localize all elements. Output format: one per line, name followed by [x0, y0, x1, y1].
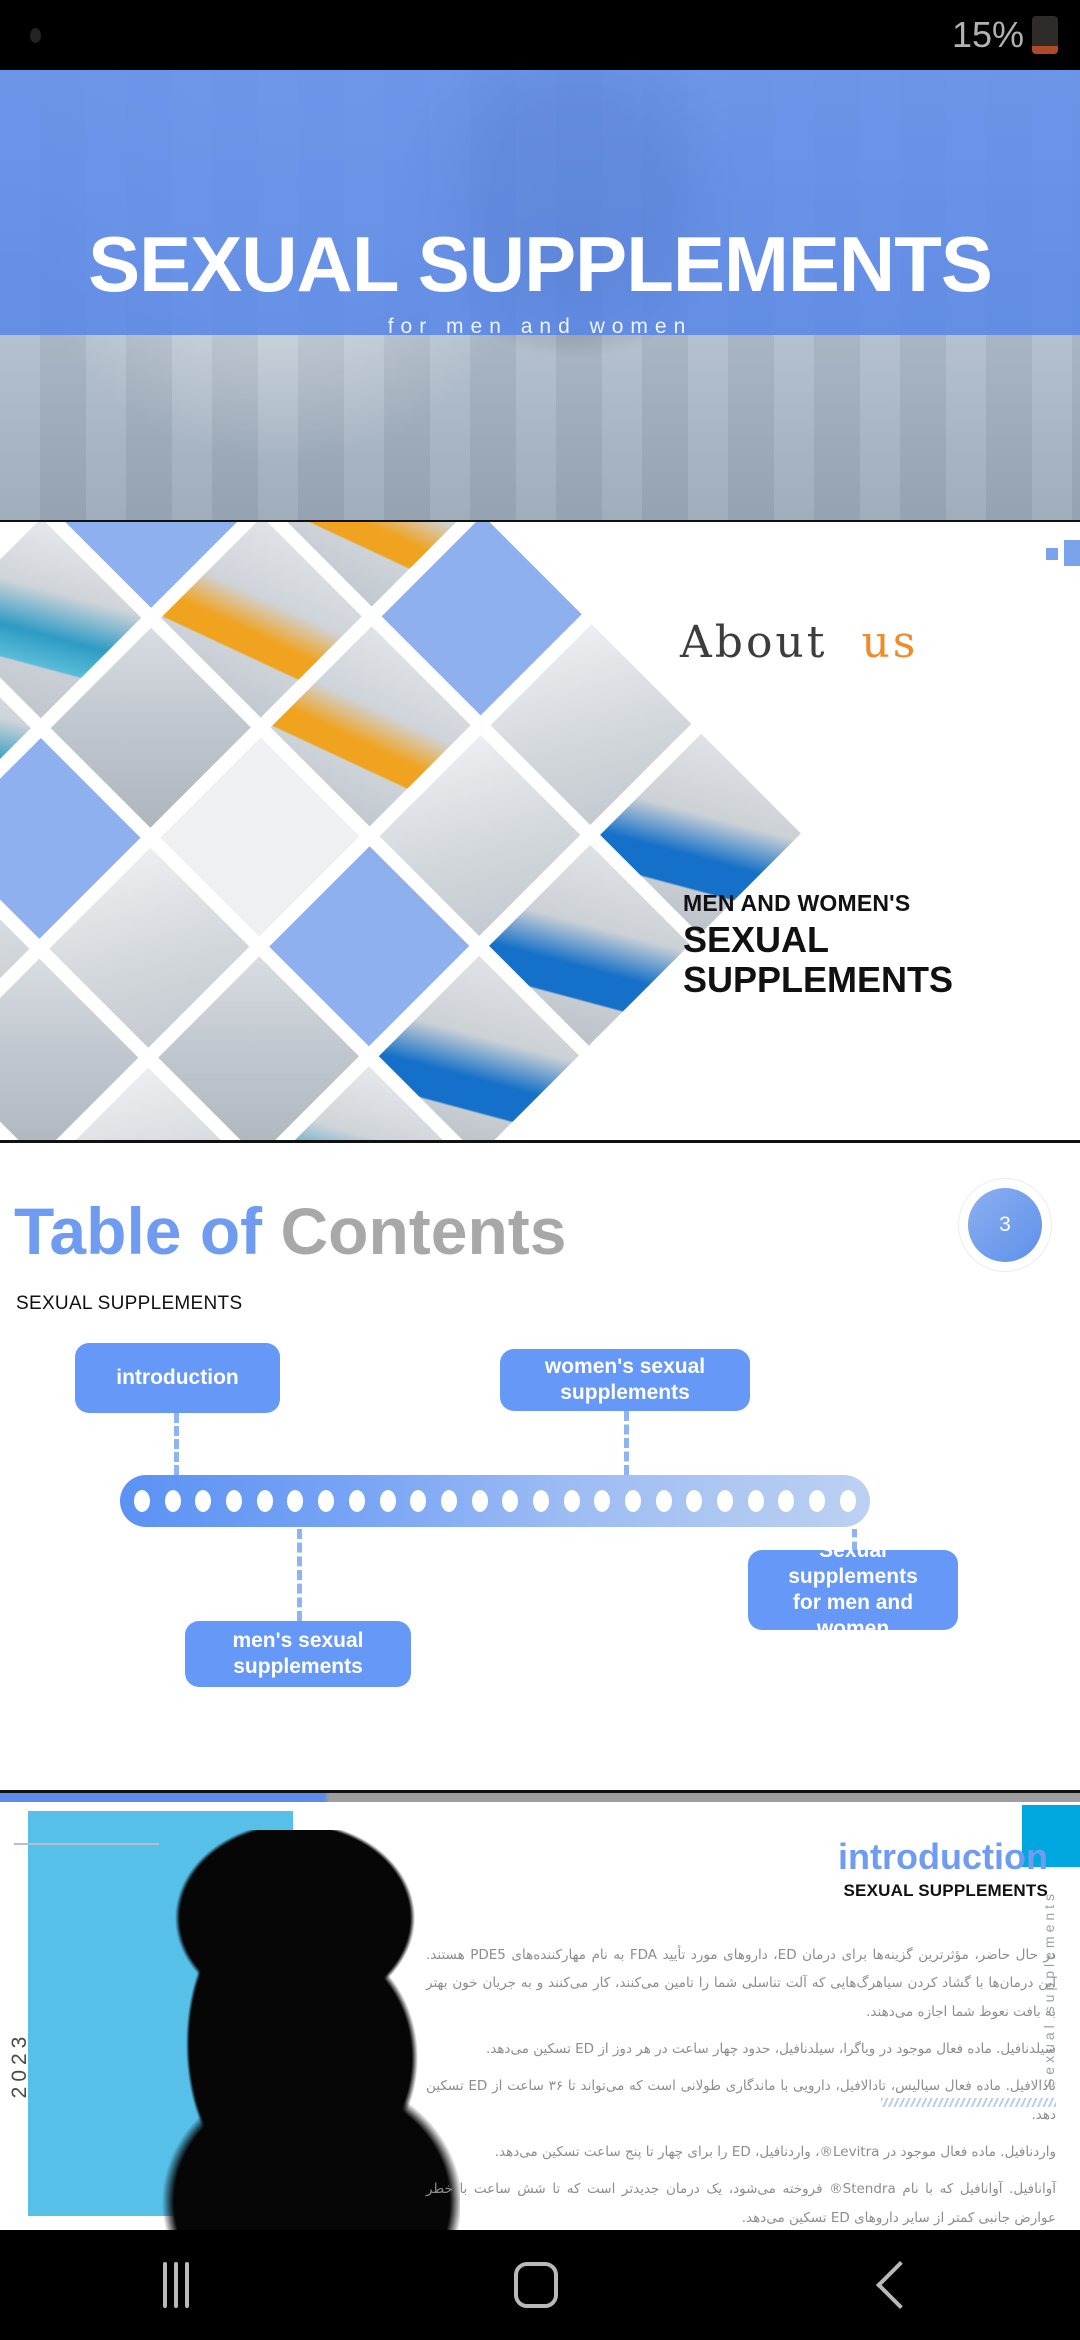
status-bar: 15% — [0, 0, 1080, 70]
intro-heading-group: introduction SEXUAL SUPPLEMENTS — [838, 1839, 1048, 1901]
about-heading-part2: us — [861, 617, 918, 668]
timeline-dot — [809, 1490, 825, 1512]
timeline-dot — [257, 1490, 273, 1512]
timeline-dot — [380, 1490, 396, 1512]
pill-photo-mosaic — [0, 520, 801, 1140]
timeline-dot — [748, 1490, 764, 1512]
timeline-dot — [778, 1490, 794, 1512]
toc-title: Table of Contents — [14, 1198, 566, 1264]
intro-body-text: در حال حاضر، مؤثرترین گزینه‌ها برای درما… — [426, 1941, 1056, 2230]
back-icon[interactable] — [876, 2261, 924, 2309]
status-bar-right: 15% — [952, 14, 1058, 56]
timeline-dot — [195, 1490, 211, 1512]
battery-low-icon — [1032, 16, 1058, 54]
timeline-dot — [318, 1490, 334, 1512]
timeline-dot — [625, 1490, 641, 1512]
toc-connector-mens — [297, 1529, 302, 1621]
toc-connector-sexual-supplements — [852, 1529, 857, 1550]
timeline-dot — [502, 1490, 518, 1512]
timeline-dot — [686, 1490, 702, 1512]
toc-subtitle: SEXUAL SUPPLEMENTS — [16, 1293, 242, 1315]
about-heading-part1: About — [680, 617, 827, 668]
timeline-dot — [564, 1490, 580, 1512]
toc-item-sexual-supplements-for-men-and-women[interactable]: Sexual supplements for men and women — [748, 1550, 958, 1630]
timeline-dot — [410, 1490, 426, 1512]
intro-paragraph: در حال حاضر، مؤثرترین گزینه‌ها برای درما… — [426, 1941, 1056, 2026]
slide-introduction[interactable]: 2023 Sexual supplements introduction SEX… — [0, 1790, 1080, 2230]
intro-hatched-divider — [881, 2098, 1056, 2107]
about-title-line1: SEXUAL — [683, 920, 953, 960]
toc-item-mens-supplements[interactable]: men's sexual supplements — [185, 1621, 411, 1687]
cover-subtitle: for men and women — [0, 315, 1080, 339]
timeline-dot — [165, 1490, 181, 1512]
timeline-dot — [349, 1490, 365, 1512]
toc-connector-introduction — [174, 1413, 179, 1475]
slide-about-us[interactable]: About us MEN AND WOMEN'S SEXUAL SUPPLEME… — [0, 520, 1080, 1140]
timeline-dot — [533, 1490, 549, 1512]
intro-subheading: SEXUAL SUPPLEMENTS — [838, 1881, 1048, 1901]
intro-paragraph: واردنافیل. ماده فعال موجود در Levitra®، … — [426, 2138, 1056, 2166]
timeline-dot — [840, 1490, 856, 1512]
home-icon[interactable] — [514, 2262, 558, 2308]
about-title: SEXUAL SUPPLEMENTS — [683, 920, 953, 1001]
timeline-dot — [594, 1490, 610, 1512]
timeline-dot — [717, 1490, 733, 1512]
timeline-dot — [134, 1490, 150, 1512]
intro-year-label: 2023 — [8, 2019, 32, 2111]
slide-cover[interactable]: SEXUAL SUPPLEMENTS for men and women — [0, 70, 1080, 520]
battery-fill — [1032, 46, 1058, 54]
toc-item-introduction[interactable]: introduction — [75, 1343, 280, 1413]
camera-punch-hole-icon — [30, 28, 41, 43]
about-heading: About us — [680, 617, 918, 668]
intro-paragraph: آوانافیل. آوانافیل که با نام Stendra® فر… — [426, 2175, 1056, 2230]
about-kicker: MEN AND WOMEN'S — [683, 890, 910, 917]
timeline-dot — [226, 1490, 242, 1512]
about-title-line2: SUPPLEMENTS — [683, 960, 953, 1000]
toc-connector-womens — [624, 1411, 629, 1475]
intro-top-bar — [0, 1793, 1080, 1802]
recents-icon[interactable] — [163, 2262, 189, 2308]
timeline-dot — [472, 1490, 488, 1512]
toc-title-part2: Contents — [280, 1194, 566, 1268]
toc-timeline-bar — [120, 1475, 870, 1527]
toc-item-womens-supplements[interactable]: women's sexual supplements — [500, 1349, 750, 1411]
screenshot-root: 15% SEXUAL SUPPLEMENTS for men and women — [0, 0, 1080, 2340]
person-silhouette-image — [100, 1830, 460, 2230]
about-corner-decoration — [1046, 540, 1080, 574]
cover-title: SEXUAL SUPPLEMENTS — [0, 225, 1080, 303]
intro-paragraph: سیلدنافیل. ماده فعال موجود در ویاگرا، سی… — [426, 2035, 1056, 2063]
timeline-dot — [441, 1490, 457, 1512]
page-number-badge: 3 — [968, 1188, 1042, 1262]
battery-percent-label: 15% — [952, 14, 1024, 56]
slide-scroll-area[interactable]: SEXUAL SUPPLEMENTS for men and women Abo… — [0, 70, 1080, 2230]
toc-title-part1: Table of — [14, 1194, 262, 1268]
android-navigation-bar — [0, 2230, 1080, 2340]
timeline-dot — [656, 1490, 672, 1512]
intro-heading: introduction — [838, 1839, 1048, 1875]
slide-table-of-contents[interactable]: Table of Contents SEXUAL SUPPLEMENTS 3 i… — [0, 1140, 1080, 1790]
timeline-dot — [287, 1490, 303, 1512]
